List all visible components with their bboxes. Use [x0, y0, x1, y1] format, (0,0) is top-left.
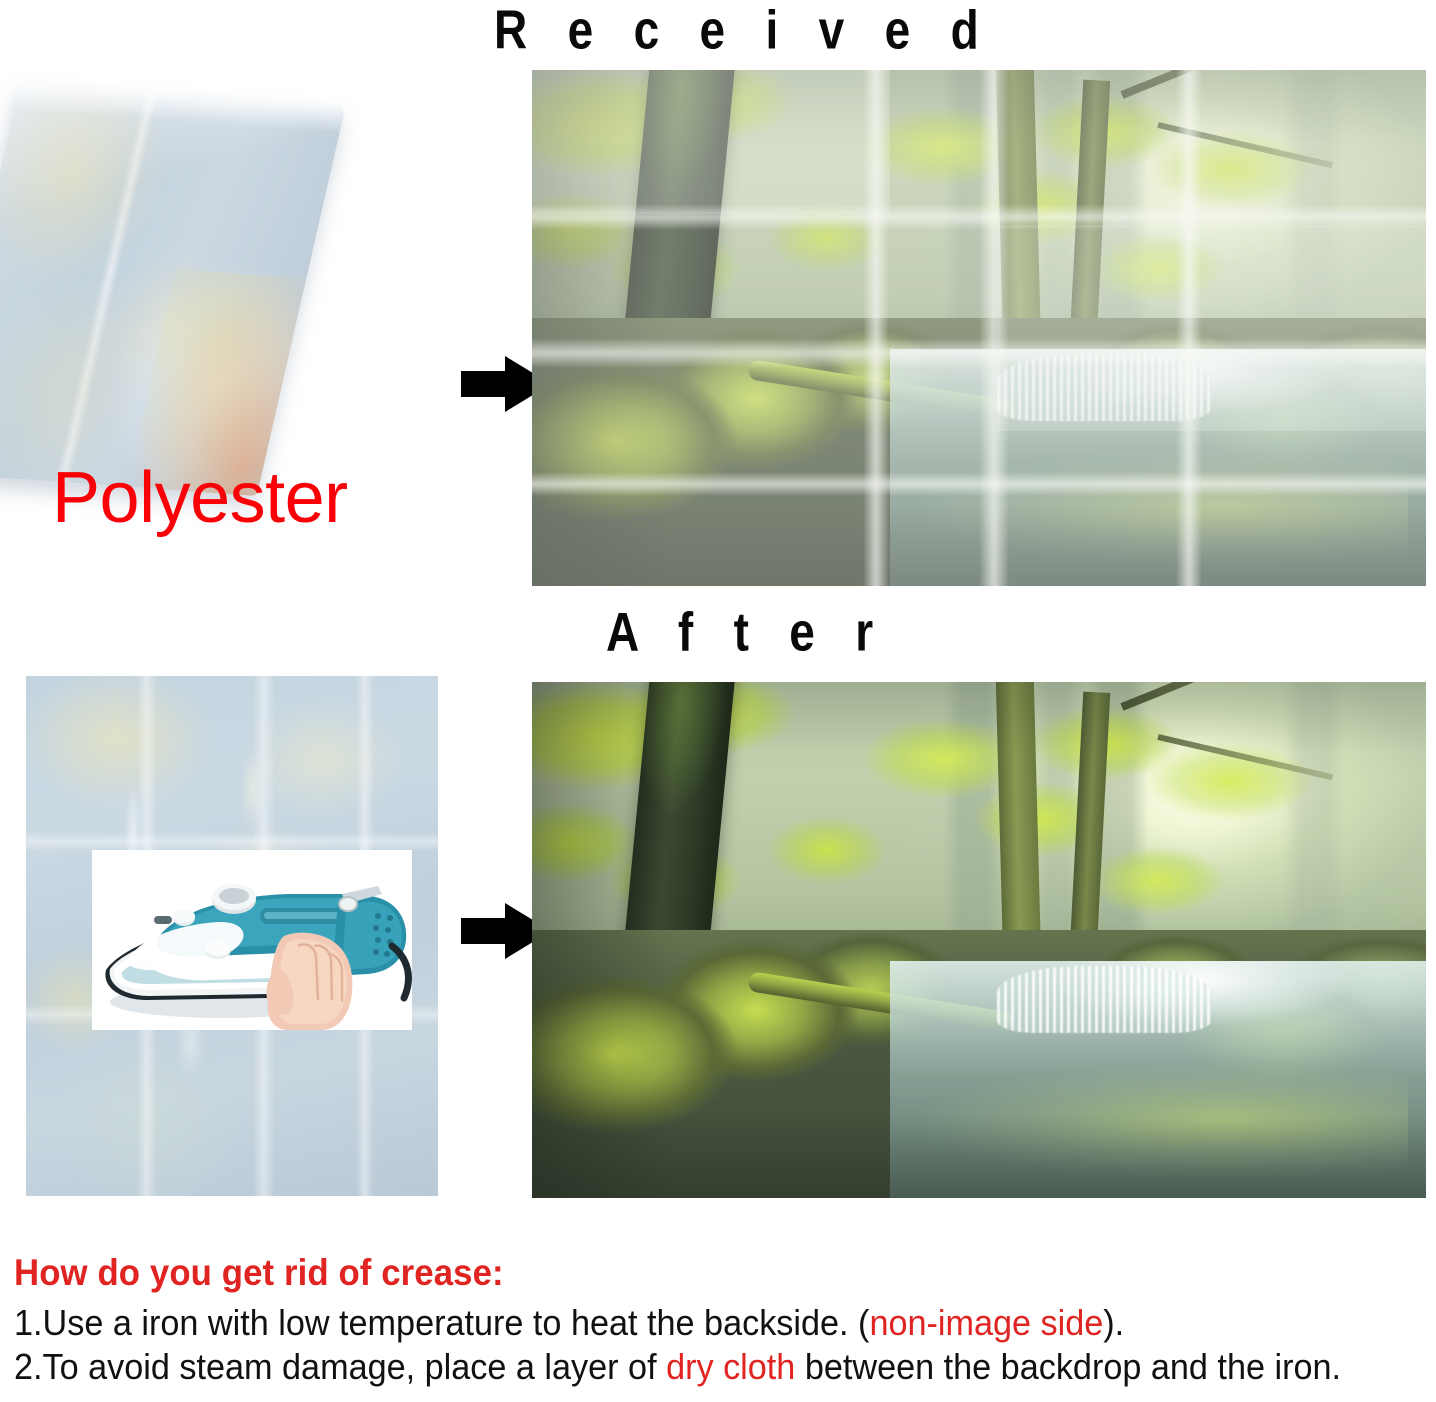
- arrow-shaft: [461, 918, 511, 944]
- forest-vignette: [532, 682, 1426, 1198]
- fabric-sheet: [0, 84, 346, 496]
- polyester-label: Polyester: [52, 462, 348, 534]
- care-step-1-highlight: non-image side: [869, 1302, 1103, 1343]
- heading-received: R e c e i v e d: [494, 0, 992, 62]
- cloth-crease-horizontal: [26, 832, 438, 852]
- received-haze-overlay: [532, 70, 1426, 586]
- after-backdrop-photo: [532, 682, 1426, 1198]
- arrow-shaft: [461, 371, 511, 397]
- care-instructions: How do you get rid of crease: 1.Use a ir…: [14, 1252, 1426, 1389]
- care-step-2-highlight: dry cloth: [666, 1346, 795, 1387]
- care-step-2: 2.To avoid steam damage, place a layer o…: [14, 1345, 1355, 1389]
- care-step-2-suffix: between the backdrop and the iron.: [795, 1346, 1341, 1387]
- fabric-texture: [0, 84, 346, 496]
- heading-after: A f t e r: [606, 600, 887, 664]
- iron-white-plate: [92, 850, 412, 1030]
- care-instructions-title: How do you get rid of crease:: [14, 1252, 1341, 1294]
- hand: [266, 933, 352, 1030]
- care-step-1-suffix: ).: [1103, 1302, 1124, 1343]
- ironing-demo-photo: [26, 676, 438, 1196]
- care-step-1-prefix: 1.Use a iron with low temperature to hea…: [14, 1302, 869, 1343]
- folded-fabric-photo: [14, 74, 444, 504]
- received-backdrop-photo: [532, 70, 1426, 586]
- care-step-1: 1.Use a iron with low temperature to hea…: [14, 1301, 1355, 1345]
- care-step-2-prefix: 2.To avoid steam damage, place a layer o…: [14, 1346, 666, 1387]
- steam-iron-illustration: [92, 850, 412, 1030]
